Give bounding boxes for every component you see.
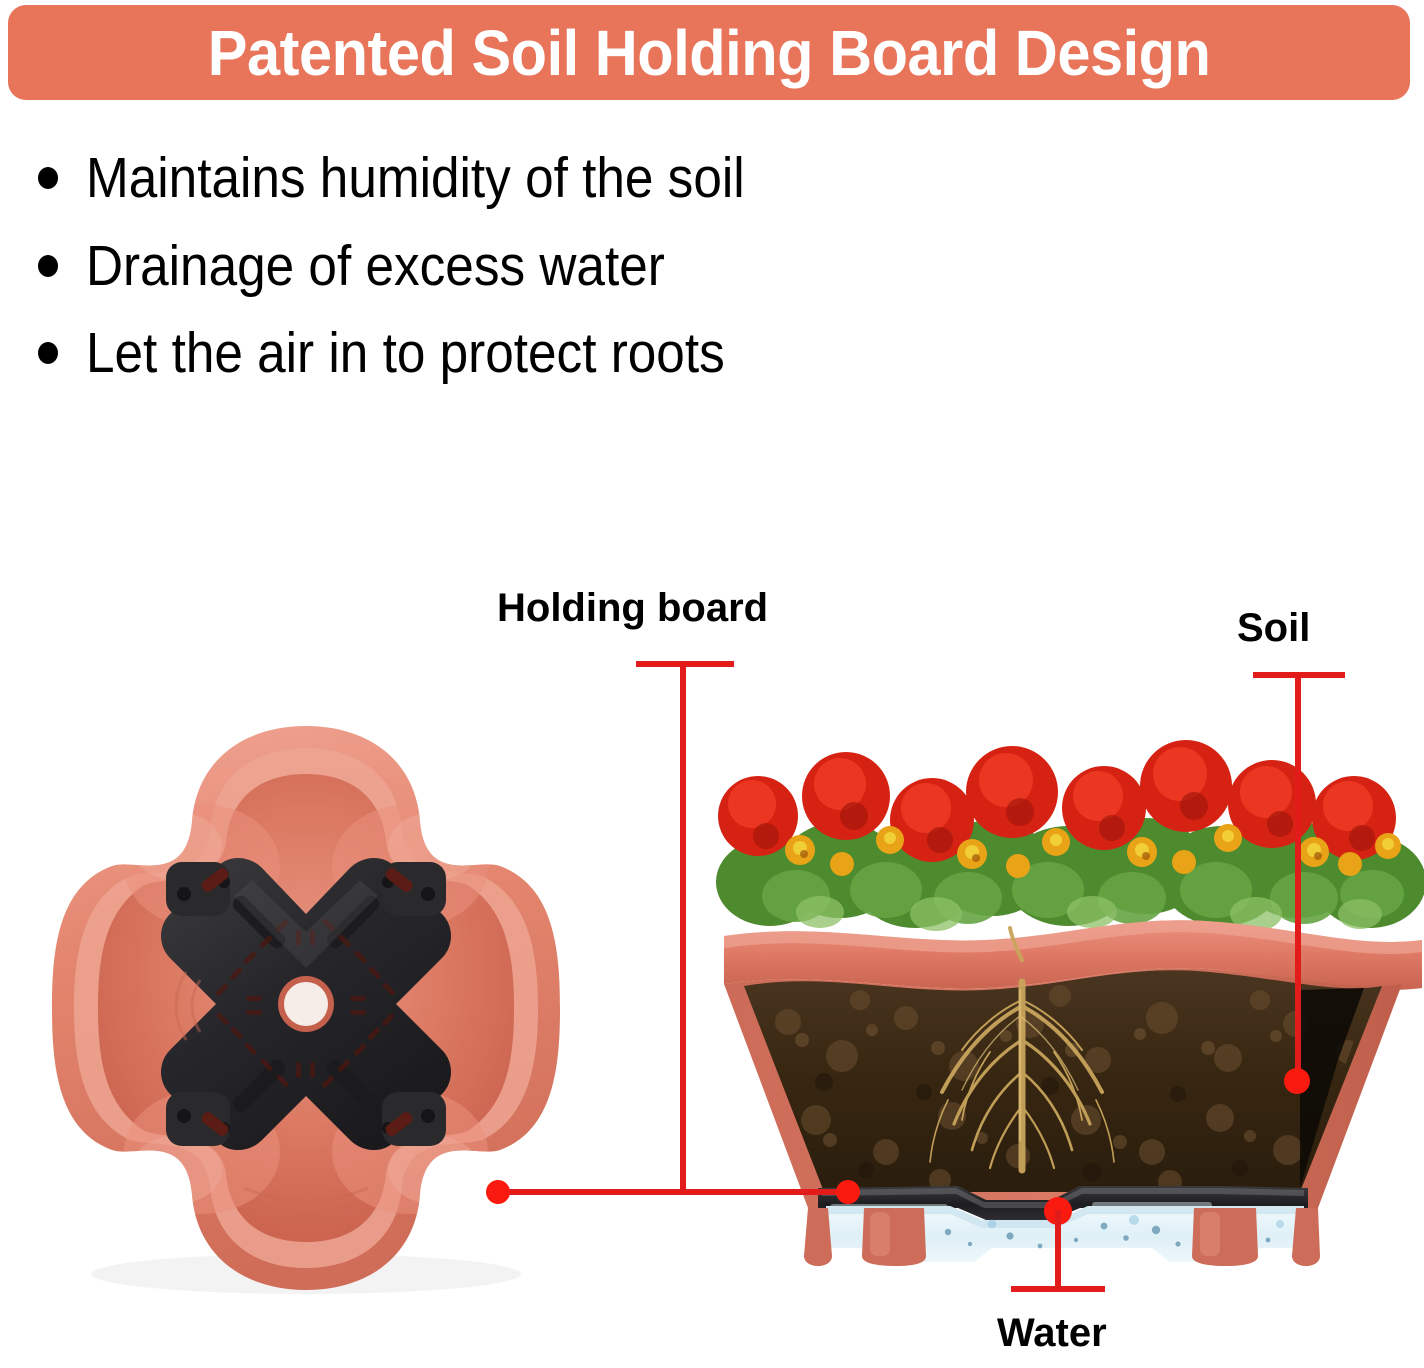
water-leader-tbar xyxy=(1011,1286,1105,1292)
soil-leader-stem xyxy=(1295,672,1301,1076)
holding-board-leader-bridge xyxy=(497,1189,849,1195)
plant-foliage xyxy=(716,740,1424,931)
list-item: Drainage of excess water xyxy=(38,236,1138,298)
feature-text: Maintains humidity of the soil xyxy=(86,148,745,210)
infographic-page: Patented Soil Holding Board Design Maint… xyxy=(0,0,1424,1368)
list-item: Maintains humidity of the soil xyxy=(38,148,1138,210)
cross-section-planter-photo xyxy=(700,700,1424,1270)
callout-label-water: Water xyxy=(997,1313,1107,1353)
top-down-planter-photo xyxy=(48,718,564,1298)
soil-marker xyxy=(1284,1068,1310,1094)
holding-board-leader-stem xyxy=(680,661,686,1192)
callout-label-holding-board: Holding board xyxy=(497,588,768,628)
list-item: Let the air in to protect roots xyxy=(38,323,1138,385)
holding-board-marker-right xyxy=(836,1180,860,1204)
bullet-dot-icon xyxy=(38,255,58,277)
bullet-dot-icon xyxy=(38,342,58,364)
holding-board-marker-left xyxy=(486,1180,510,1204)
header-banner: Patented Soil Holding Board Design xyxy=(8,5,1410,100)
center-drain-hole-inner xyxy=(284,982,328,1026)
feature-list: Maintains humidity of the soil Drainage … xyxy=(38,148,1138,411)
bullet-dot-icon xyxy=(38,167,58,189)
callout-label-soil: Soil xyxy=(1237,608,1310,648)
feature-text: Drainage of excess water xyxy=(86,236,665,298)
top-down-planter-illustration xyxy=(48,718,564,1298)
feature-text: Let the air in to protect roots xyxy=(86,323,725,385)
cross-section-illustration xyxy=(700,700,1424,1270)
water-leader-stem xyxy=(1055,1210,1061,1290)
page-title: Patented Soil Holding Board Design xyxy=(208,21,1211,85)
